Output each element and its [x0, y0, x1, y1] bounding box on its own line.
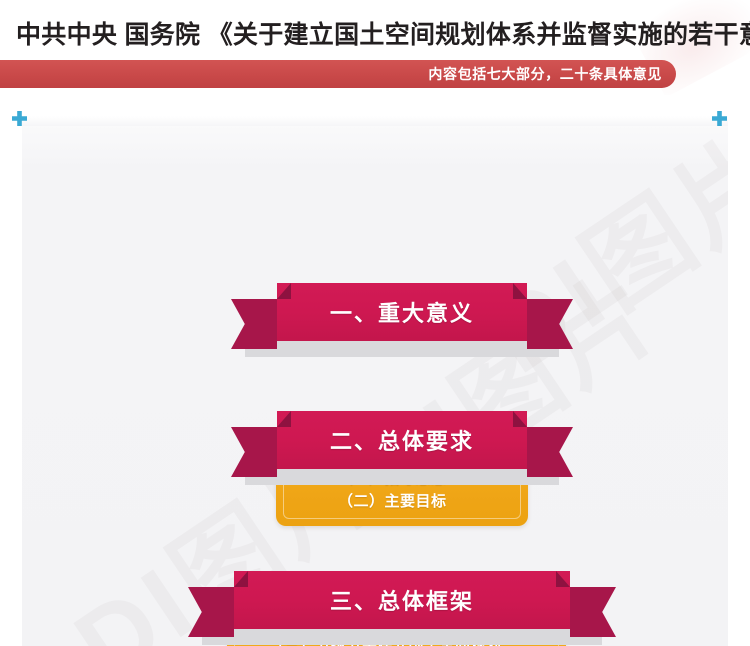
page-title: 中共中央 国务院 《关于建立国土空间规划体系并监督实施的若干意见》	[16, 19, 750, 51]
watermark-text: DI图片	[452, 116, 728, 401]
ribbon-band: 一、重大意义	[277, 283, 527, 341]
section-major-significance: 一、重大意义	[231, 283, 573, 349]
section-title: 二、总体要求	[330, 424, 474, 456]
infographic-page: 中共中央 国务院 《关于建立国土空间规划体系并监督实施的若干意见》 内容包括七大…	[0, 0, 750, 646]
ribbon-tail-left	[231, 427, 277, 477]
ribbon-band: 二、总体要求	[277, 411, 527, 469]
ribbon-banner: 一、重大意义	[231, 283, 573, 349]
cross-marker-icon	[712, 111, 727, 126]
section-overall-framework: 三、总体框架	[188, 571, 616, 637]
section-overall-requirements: 二、总体要求	[231, 411, 573, 477]
watermark: DI图片 DI图片 DI图片	[22, 116, 728, 646]
cross-marker-icon	[12, 111, 27, 126]
ribbon-tail-right	[527, 427, 573, 477]
ribbon-banner: 三、总体框架	[188, 571, 616, 637]
content-panel: DI图片 DI图片 DI图片 一、重大意义 （一）指导思想 （二）主要目标	[22, 116, 728, 646]
ribbon-tail-right	[570, 587, 616, 637]
section-title: 一、重大意义	[330, 296, 474, 328]
header-subtitle: 内容包括七大部分，二十条具体意见	[428, 64, 662, 84]
ribbon-tail-left	[231, 299, 277, 349]
ribbon-tail-right	[527, 299, 573, 349]
panel-top-strip	[22, 116, 728, 126]
ribbon-banner: 二、总体要求	[231, 411, 573, 477]
ribbon-band: 三、总体框架	[234, 571, 570, 629]
header: 中共中央 国务院 《关于建立国土空间规划体系并监督实施的若干意见》 内容包括七大…	[0, 0, 750, 95]
section-title: 三、总体框架	[330, 584, 474, 616]
ribbon-tail-left	[188, 587, 234, 637]
list-item: （二）主要目标	[338, 490, 528, 513]
